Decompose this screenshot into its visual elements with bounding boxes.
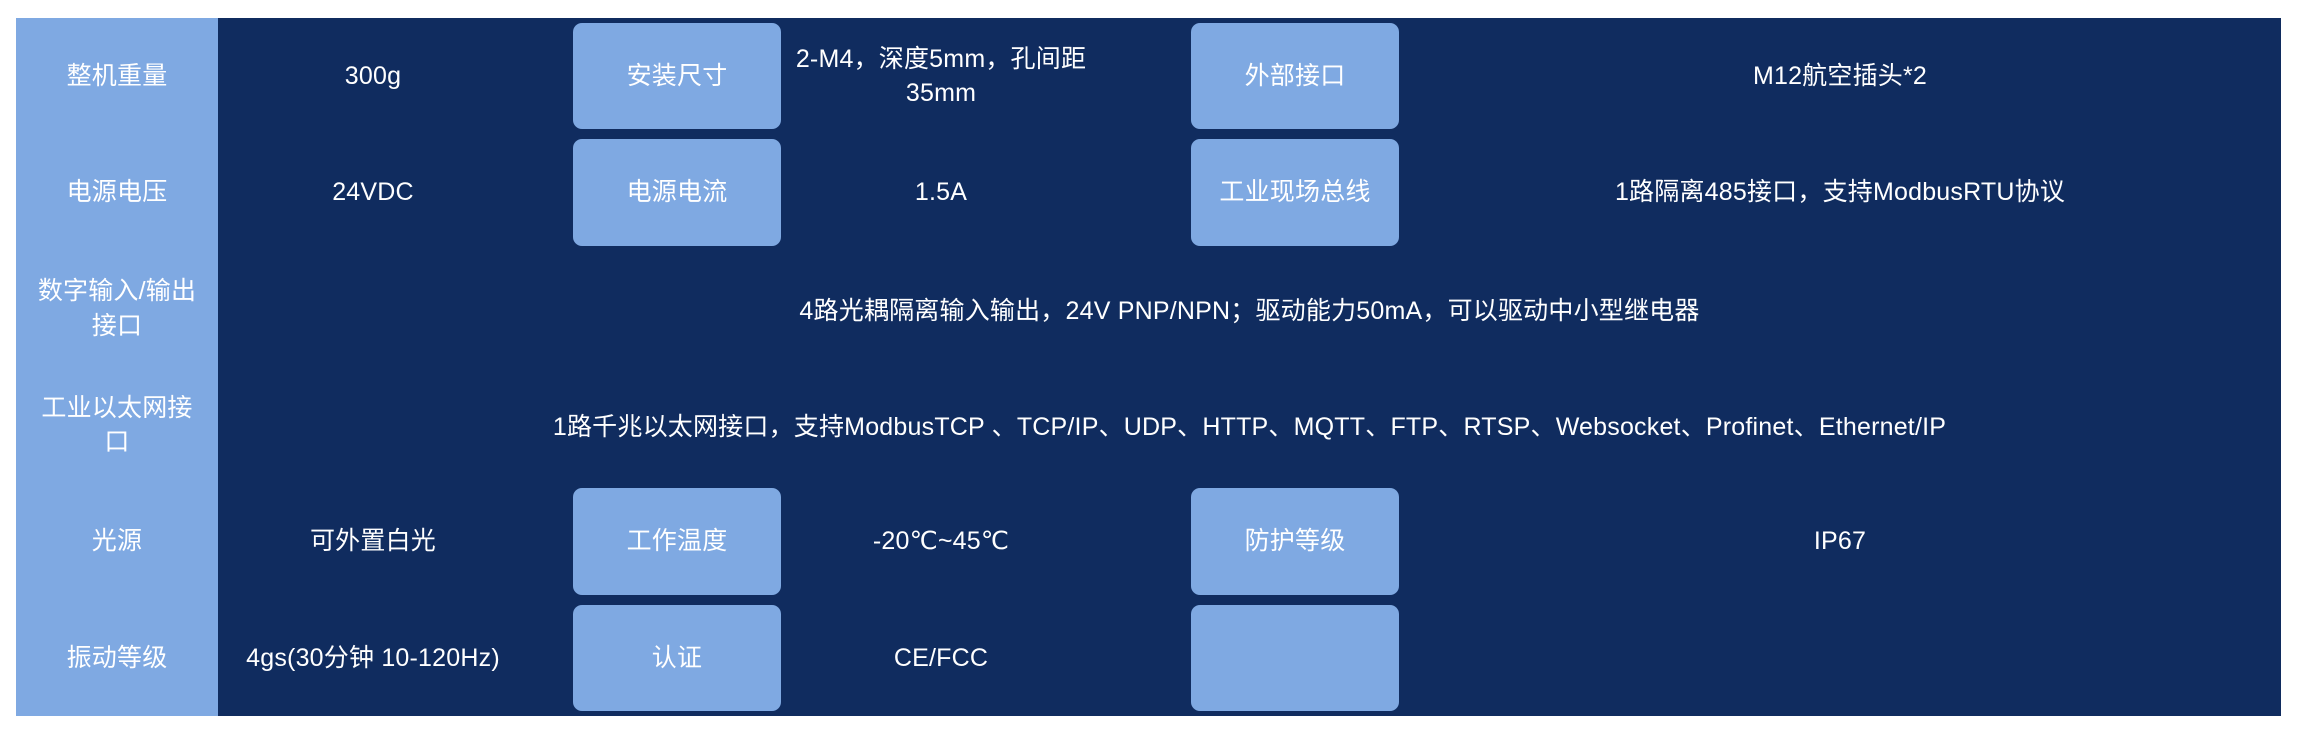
row-key-3: 工业现场总线 [1191,139,1399,245]
table-row: 工业以太网接口 1路千兆以太网接口，支持ModbusTCP 、TCP/IP、UD… [16,367,2281,483]
row-value: 4gs(30分钟 10-120Hz) [218,600,528,716]
specification-table: 整机重量 300g 安装尺寸 2-M4，深度5mm，孔间距35mm 外部接口 M… [16,18,2281,716]
row-label: 电源电压 [16,134,218,250]
row-value-3: 1路隔离485接口，支持ModbusRTU协议 [1399,134,2281,250]
row-key-2: 电源电流 [573,139,781,245]
row-value-3: IP67 [1399,483,2281,599]
spacer [1101,483,1191,599]
row-value: 300g [218,18,528,134]
row-label: 光源 [16,483,218,599]
row-value-2: CE/FCC [781,600,1101,716]
row-key-3 [1191,605,1399,711]
table-row: 整机重量 300g 安装尺寸 2-M4，深度5mm，孔间距35mm 外部接口 M… [16,18,2281,134]
row-value: 可外置白光 [218,483,528,599]
spacer [1101,18,1191,134]
spacer [1101,134,1191,250]
spacer [528,600,573,716]
row-key-2: 安装尺寸 [573,23,781,129]
row-value-2: 2-M4，深度5mm，孔间距35mm [781,18,1101,134]
spacer [1101,600,1191,716]
table-row: 电源电压 24VDC 电源电流 1.5A 工业现场总线 1路隔离485接口，支持… [16,134,2281,250]
row-key-2: 工作温度 [573,488,781,594]
table-row: 光源 可外置白光 工作温度 -20℃~45℃ 防护等级 IP67 [16,483,2281,599]
table-row: 数字输入/输出接口 4路光耦隔离输入输出，24V PNP/NPN；驱动能力50m… [16,251,2281,367]
row-label: 振动等级 [16,600,218,716]
table-row: 振动等级 4gs(30分钟 10-120Hz) 认证 CE/FCC [16,600,2281,716]
row-value-merged: 4路光耦隔离输入输出，24V PNP/NPN；驱动能力50mA，可以驱动中小型继… [218,251,2281,367]
row-label: 数字输入/输出接口 [16,251,218,367]
spacer [528,18,573,134]
row-key-3: 防护等级 [1191,488,1399,594]
spacer [528,134,573,250]
row-value-3 [1399,600,2281,716]
row-value-2: -20℃~45℃ [781,483,1101,599]
row-value-merged: 1路千兆以太网接口，支持ModbusTCP 、TCP/IP、UDP、HTTP、M… [218,367,2281,483]
row-key-2: 认证 [573,605,781,711]
row-value: 24VDC [218,134,528,250]
row-label: 整机重量 [16,18,218,134]
row-label: 工业以太网接口 [16,367,218,483]
row-value-3: M12航空插头*2 [1399,18,2281,134]
row-key-3: 外部接口 [1191,23,1399,129]
spacer [528,483,573,599]
row-value-2: 1.5A [781,134,1101,250]
